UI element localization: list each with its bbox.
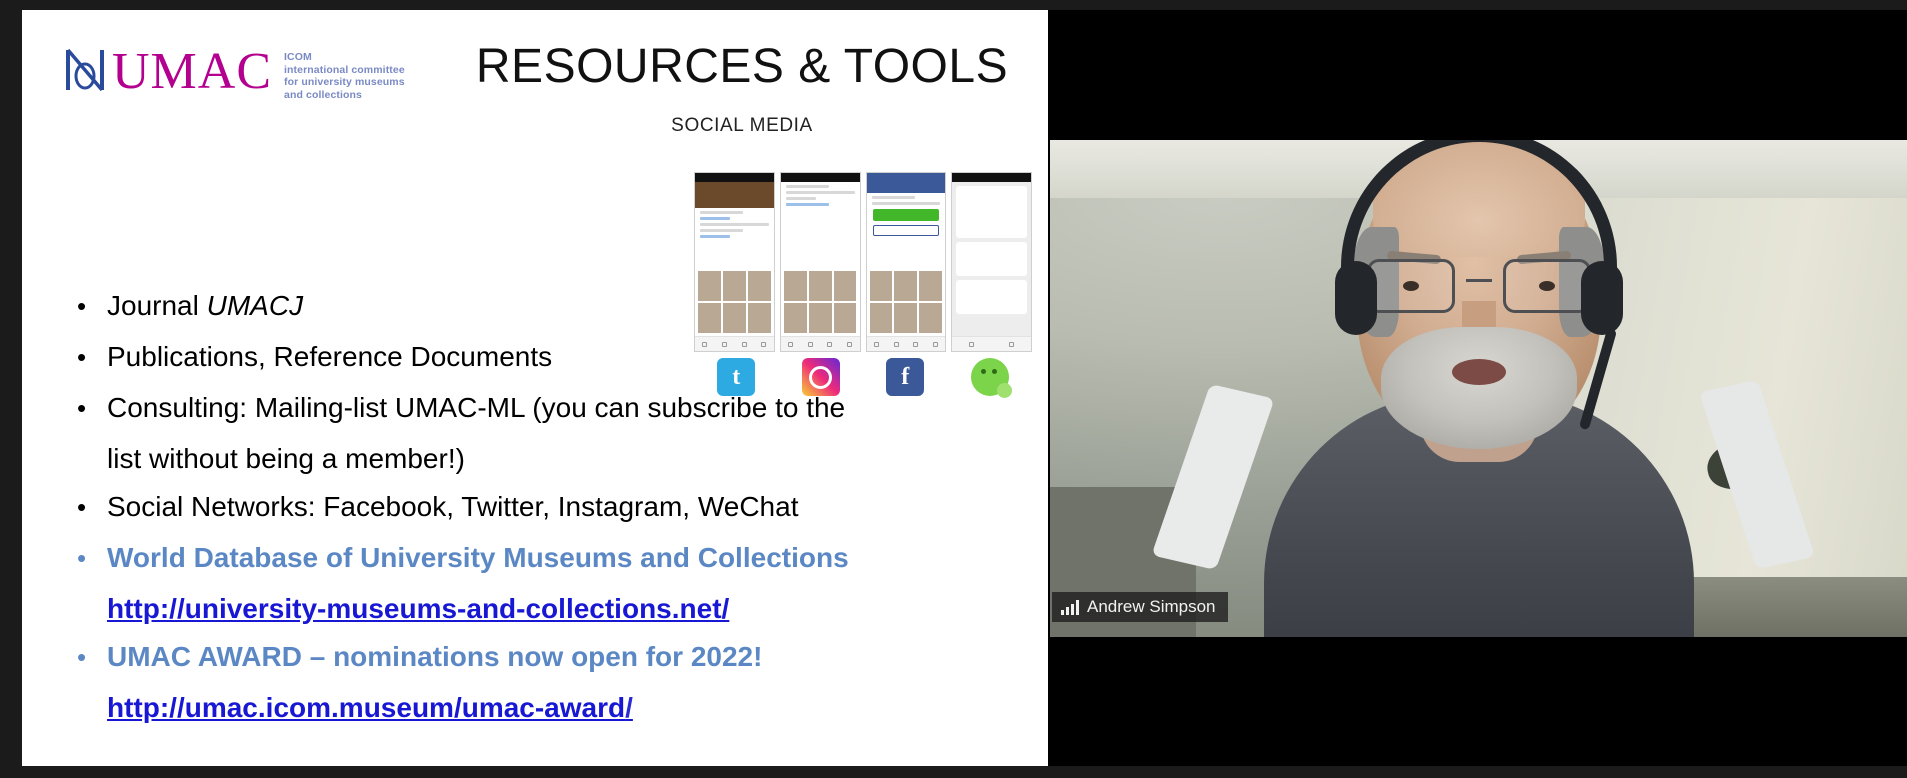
logo-subtitle-line-3: for university museums <box>284 76 405 89</box>
participant-head <box>1357 141 1601 447</box>
bullet-text: Journal UMACJ <box>107 282 303 330</box>
bullet-text: Social Networks: Facebook, Twitter, Inst… <box>107 483 798 531</box>
world-database-link[interactable]: http://university-museums-and-collection… <box>77 585 997 633</box>
logo-subtitle-line-2: international committee <box>284 64 405 77</box>
bullet-marker: • <box>77 282 107 330</box>
participant-mouth <box>1452 359 1506 385</box>
participant-eye-right <box>1539 281 1555 291</box>
shared-slide: UMAC ICOM international committee for un… <box>22 10 1048 766</box>
bullet-marker: • <box>77 333 107 381</box>
window-top-border <box>0 0 1907 10</box>
bullet-umac-award: • UMAC AWARD – nominations now open for … <box>77 633 997 732</box>
bullet-italic-term: UMACJ <box>207 290 303 321</box>
bullet-journal: • Journal UMACJ <box>77 282 997 330</box>
bullet-continuation: list without being a member!) <box>77 435 997 483</box>
umac-logo-subtitle: ICOM international committee for univers… <box>284 51 405 101</box>
participant-eye-left <box>1403 281 1419 291</box>
bullet-marker: • <box>77 384 107 432</box>
bullet-consulting: • Consulting: Mailing-list UMAC-ML (you … <box>77 384 997 483</box>
screen-share-window: UMAC ICOM international committee for un… <box>0 0 1907 778</box>
bullet-text: World Database of University Museums and… <box>107 534 849 582</box>
slide-title: RESOURCES & TOOLS <box>452 38 1032 96</box>
bullet-publications: • Publications, Reference Documents <box>77 333 997 381</box>
bullet-marker: • <box>77 633 107 681</box>
window-bottom-border <box>0 766 1907 778</box>
umac-logo: UMAC ICOM international committee for un… <box>62 46 405 101</box>
participant-video-tile[interactable] <box>1050 140 1907 637</box>
umac-monogram-icon <box>62 46 108 94</box>
bullet-marker: • <box>77 534 107 582</box>
bullet-text: UMAC AWARD – nominations now open for 20… <box>107 633 762 681</box>
slide-subtitle: SOCIAL MEDIA <box>452 115 1032 137</box>
slide-bullet-list: • Journal UMACJ • Publications, Referenc… <box>77 282 997 732</box>
bullet-text: Consulting: Mailing-list UMAC-ML (you ca… <box>107 384 845 432</box>
bullet-marker: • <box>77 483 107 531</box>
bullet-social-networks: • Social Networks: Facebook, Twitter, In… <box>77 483 997 531</box>
umac-award-link-text: http://umac.icom.museum/umac-award <box>107 692 625 723</box>
umac-award-link-tail: / <box>625 692 633 723</box>
umac-award-link[interactable]: http://umac.icom.museum/umac-award/ <box>77 684 997 732</box>
logo-subtitle-line-1: ICOM <box>284 51 405 64</box>
glasses-bridge <box>1466 279 1492 282</box>
audio-level-bars-icon <box>1061 600 1079 615</box>
window-left-border <box>0 0 22 778</box>
participant-beard <box>1381 327 1577 449</box>
umac-wordmark: UMAC <box>112 46 272 98</box>
participant-name-label: Andrew Simpson <box>1087 597 1216 617</box>
participant-name-tag: Andrew Simpson <box>1052 592 1228 622</box>
bullet-world-database: • World Database of University Museums a… <box>77 534 997 633</box>
bullet-text: Publications, Reference Documents <box>107 333 552 381</box>
logo-subtitle-line-4: and collections <box>284 89 405 102</box>
